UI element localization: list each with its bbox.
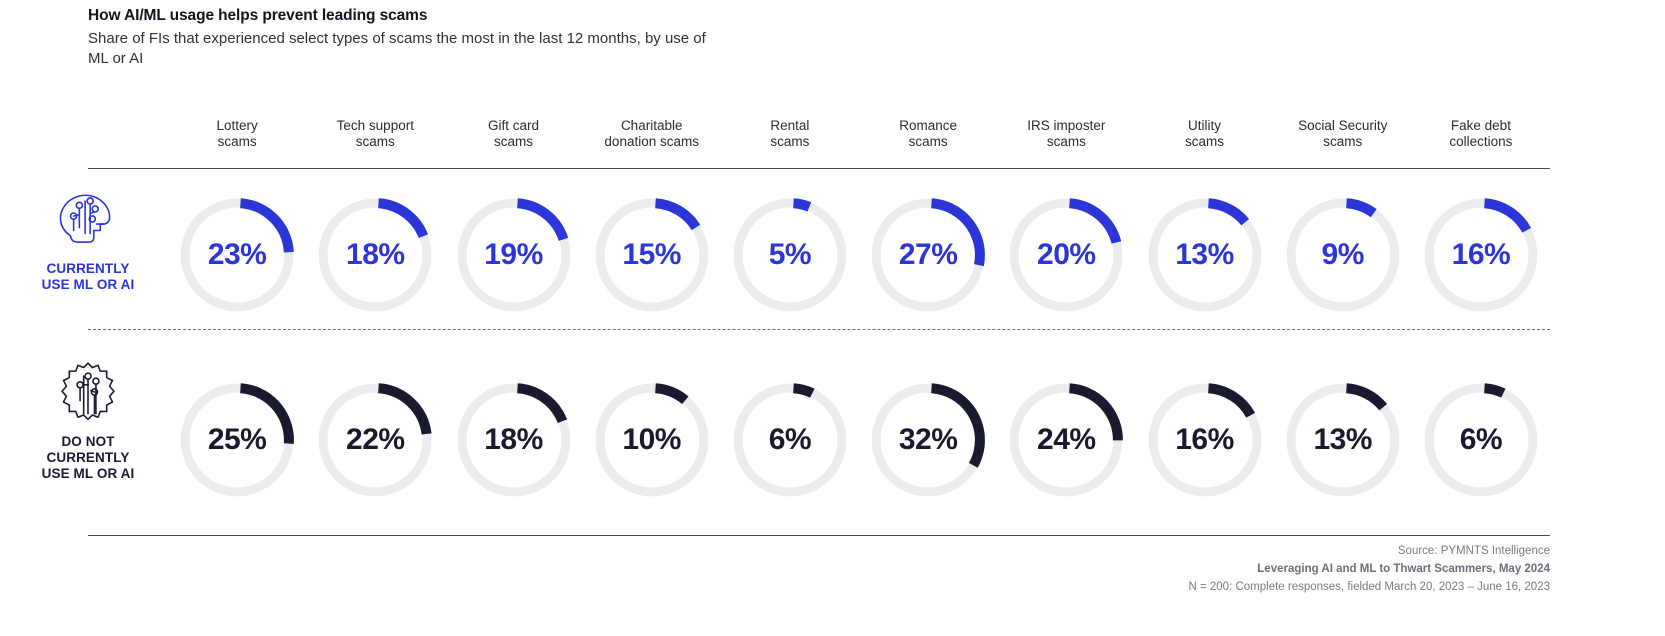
donut-value-ai-irs-imposter-scams: 20% — [1007, 196, 1125, 314]
cell-noai-social-security-scams: 13% — [1274, 381, 1412, 499]
cell-noai-gift-card-scams: 18% — [444, 381, 582, 499]
donut-value-ai-charitable-donation-scams: 15% — [593, 196, 711, 314]
donut-noai-utility-scams: 16% — [1146, 381, 1264, 499]
donut-noai-tech-support-scams: 22% — [316, 381, 434, 499]
donut-noai-rental-scams: 6% — [731, 381, 849, 499]
column-header-romance-scams: Romance scams — [859, 118, 997, 151]
cell-noai-charitable-donation-scams: 10% — [583, 381, 721, 499]
column-header-fake-debt-collections: Fake debt collections — [1412, 118, 1550, 151]
donut-value-ai-romance-scams: 27% — [869, 196, 987, 314]
footer-report-title: Leveraging AI and ML to Thwart Scammers,… — [650, 561, 1550, 579]
cell-ai-social-security-scams: 9% — [1274, 196, 1412, 314]
donut-ai-tech-support-scams: 18% — [316, 196, 434, 314]
donut-value-ai-tech-support-scams: 18% — [316, 196, 434, 314]
donut-value-noai-romance-scams: 32% — [869, 381, 987, 499]
header-divider — [88, 168, 1550, 169]
row-label-text-currently-use-ml-or-ai: CURRENTLY USE ML OR AI — [42, 261, 135, 293]
donut-value-noai-lottery-scams: 25% — [178, 381, 296, 499]
donut-value-ai-rental-scams: 5% — [731, 196, 849, 314]
column-header-gift-card-scams: Gift card scams — [444, 118, 582, 151]
column-headers: Lottery scams Tech support scams Gift ca… — [168, 118, 1550, 151]
donut-ai-fake-debt-collections: 16% — [1422, 196, 1540, 314]
donut-value-noai-charitable-donation-scams: 10% — [593, 381, 711, 499]
cell-noai-fake-debt-collections: 6% — [1412, 381, 1550, 499]
donut-value-noai-utility-scams: 16% — [1146, 381, 1264, 499]
cell-noai-rental-scams: 6% — [721, 381, 859, 499]
donut-ai-rental-scams: 5% — [731, 196, 849, 314]
column-header-lottery-scams: Lottery scams — [168, 118, 306, 151]
cell-noai-tech-support-scams: 22% — [306, 381, 444, 499]
donut-value-ai-utility-scams: 13% — [1146, 196, 1264, 314]
donut-noai-romance-scams: 32% — [869, 381, 987, 499]
cell-noai-romance-scams: 32% — [859, 381, 997, 499]
chart-footer: Source: PYMNTS Intelligence Leveraging A… — [650, 543, 1550, 596]
gear-circuit-icon — [52, 356, 124, 428]
footer-divider — [88, 535, 1550, 536]
row-label-do-not-currently-use-ml-or-ai: DO NOT CURRENTLY USE ML OR AI — [8, 356, 168, 481]
cell-ai-lottery-scams: 23% — [168, 196, 306, 314]
donut-ai-gift-card-scams: 19% — [455, 196, 573, 314]
row-label-text-do-not-currently-use-ml-or-ai: DO NOT CURRENTLY USE ML OR AI — [42, 434, 135, 481]
donut-value-ai-social-security-scams: 9% — [1284, 196, 1402, 314]
cell-ai-rental-scams: 5% — [721, 196, 859, 314]
column-header-charitable-donation-scams: Charitable donation scams — [583, 118, 721, 151]
donut-noai-gift-card-scams: 18% — [455, 381, 573, 499]
footer-sample-note: N = 200: Complete responses, fielded Mar… — [650, 579, 1550, 597]
cell-ai-gift-card-scams: 19% — [444, 196, 582, 314]
cell-noai-irs-imposter-scams: 24% — [997, 381, 1135, 499]
column-header-utility-scams: Utility scams — [1135, 118, 1273, 151]
row-do-not-currently-use-ml-or-ai: 25% 22% 18% 10% — [168, 370, 1550, 510]
cell-ai-utility-scams: 13% — [1135, 196, 1273, 314]
donut-ai-romance-scams: 27% — [869, 196, 987, 314]
column-header-rental-scams: Rental scams — [721, 118, 859, 151]
column-header-irs-imposter-scams: IRS imposter scams — [997, 118, 1135, 151]
donut-value-noai-social-security-scams: 13% — [1284, 381, 1402, 499]
donut-value-noai-irs-imposter-scams: 24% — [1007, 381, 1125, 499]
donut-ai-social-security-scams: 9% — [1284, 196, 1402, 314]
donut-ai-utility-scams: 13% — [1146, 196, 1264, 314]
cell-ai-fake-debt-collections: 16% — [1412, 196, 1550, 314]
donut-noai-irs-imposter-scams: 24% — [1007, 381, 1125, 499]
row-currently-use-ml-or-ai: 23% 18% 19% 15% — [168, 185, 1550, 325]
column-header-tech-support-scams: Tech support scams — [306, 118, 444, 151]
donut-ai-irs-imposter-scams: 20% — [1007, 196, 1125, 314]
donut-ai-charitable-donation-scams: 15% — [593, 196, 711, 314]
donut-value-noai-fake-debt-collections: 6% — [1422, 381, 1540, 499]
donut-value-ai-lottery-scams: 23% — [178, 196, 296, 314]
donut-value-noai-tech-support-scams: 22% — [316, 381, 434, 499]
donut-noai-fake-debt-collections: 6% — [1422, 381, 1540, 499]
footer-source: Source: PYMNTS Intelligence — [650, 543, 1550, 561]
cell-ai-irs-imposter-scams: 20% — [997, 196, 1135, 314]
donut-value-noai-gift-card-scams: 18% — [455, 381, 573, 499]
cell-ai-romance-scams: 27% — [859, 196, 997, 314]
cell-ai-charitable-donation-scams: 15% — [583, 196, 721, 314]
row-label-currently-use-ml-or-ai: CURRENTLY USE ML OR AI — [8, 183, 168, 293]
cell-noai-utility-scams: 16% — [1135, 381, 1273, 499]
donut-noai-lottery-scams: 25% — [178, 381, 296, 499]
column-header-social-security-scams: Social Security scams — [1274, 118, 1412, 151]
donut-value-ai-fake-debt-collections: 16% — [1422, 196, 1540, 314]
donut-value-noai-rental-scams: 6% — [731, 381, 849, 499]
ai-head-circuit-icon — [52, 183, 124, 255]
cell-ai-tech-support-scams: 18% — [306, 196, 444, 314]
row-divider-dashed — [88, 329, 1550, 330]
donut-noai-charitable-donation-scams: 10% — [593, 381, 711, 499]
donut-ai-lottery-scams: 23% — [178, 196, 296, 314]
cell-noai-lottery-scams: 25% — [168, 381, 306, 499]
donut-noai-social-security-scams: 13% — [1284, 381, 1402, 499]
donut-value-ai-gift-card-scams: 19% — [455, 196, 573, 314]
